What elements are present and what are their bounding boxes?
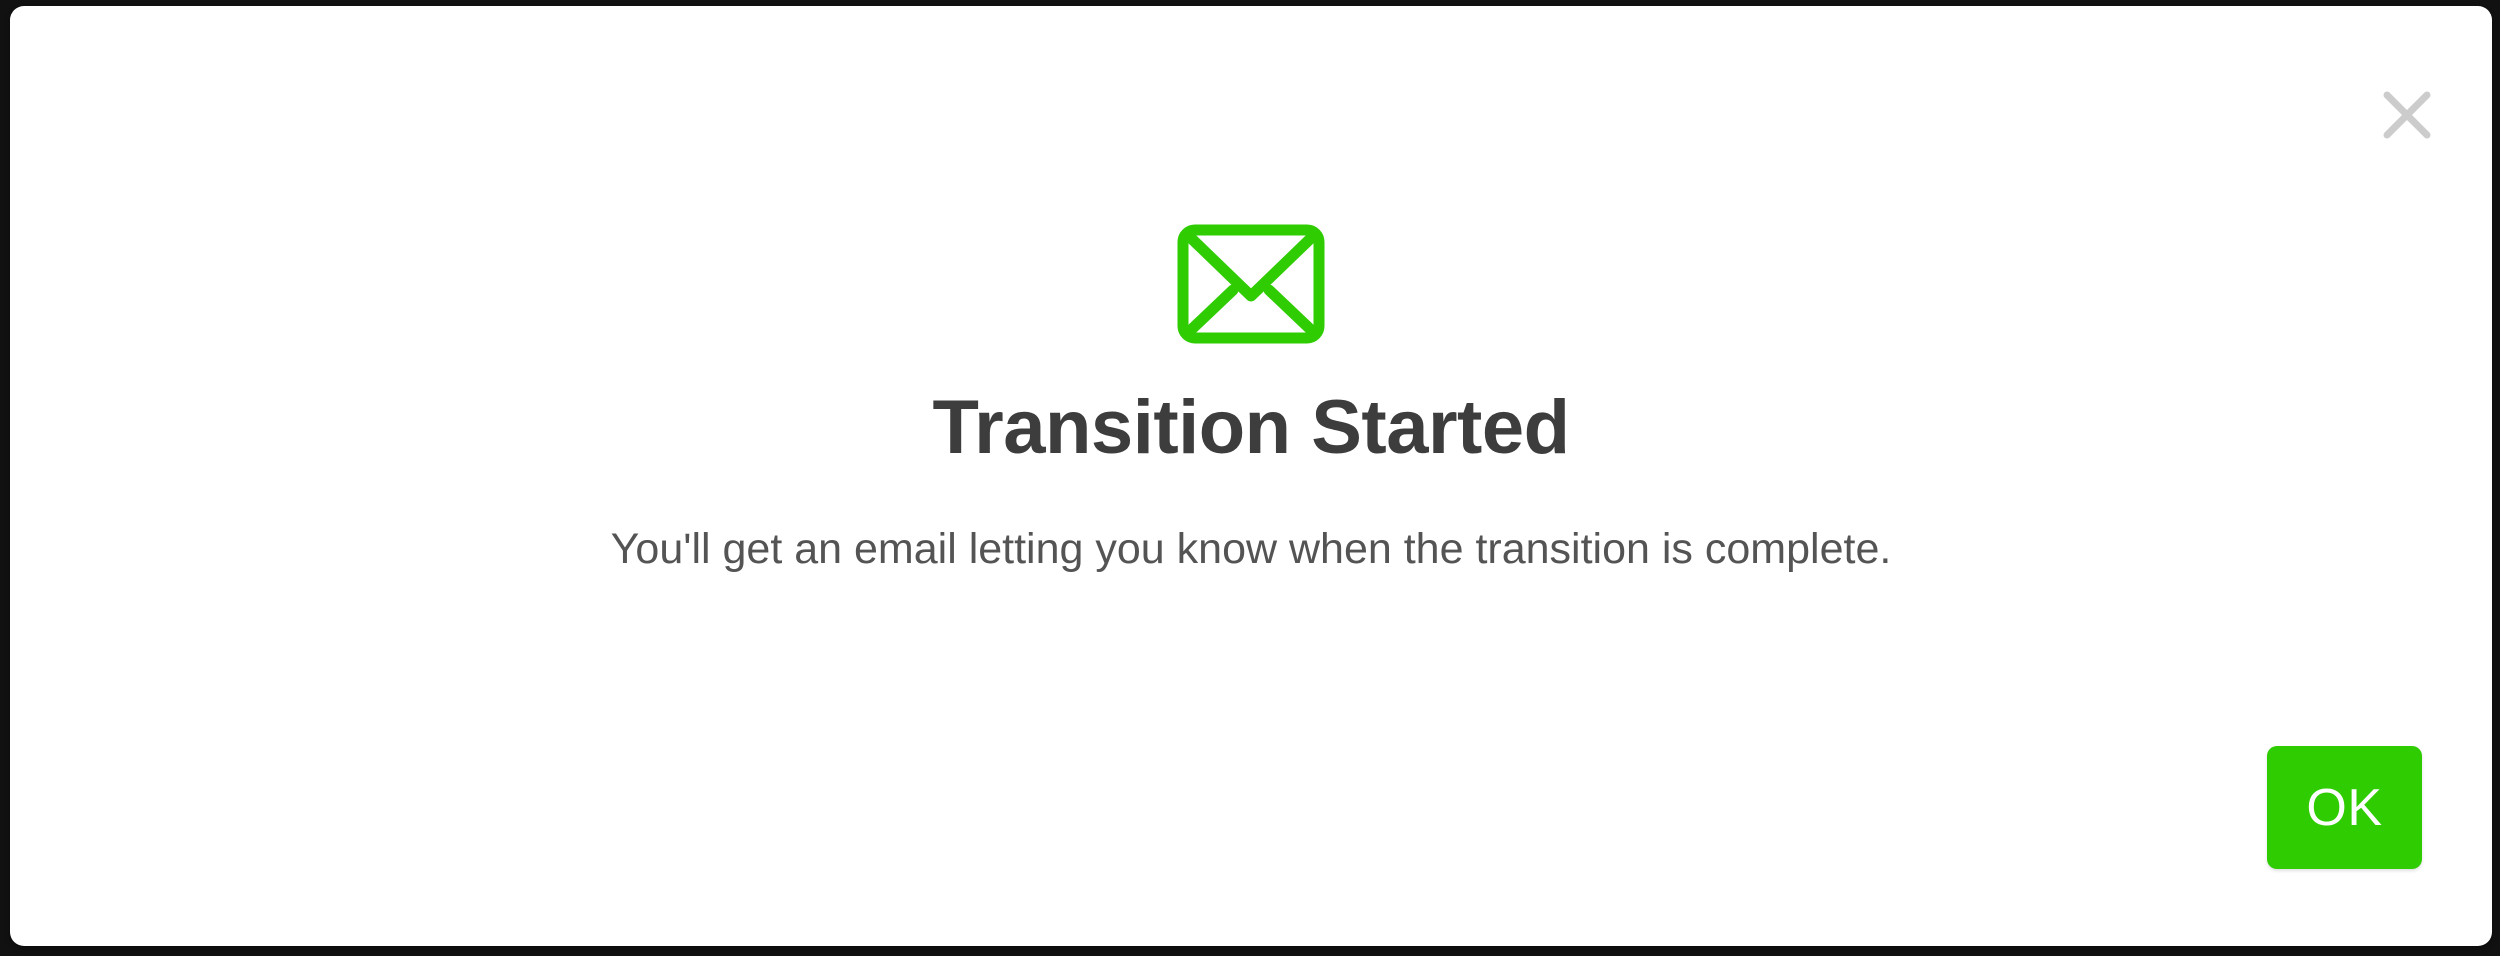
transition-started-dialog: Transition Started You'll get an email l…	[10, 6, 2492, 946]
dialog-message: You'll get an email letting you know whe…	[10, 524, 2492, 576]
ok-button[interactable]: OK	[2267, 746, 2422, 869]
dialog-title: Transition Started	[10, 390, 2492, 466]
dialog-content: Transition Started You'll get an email l…	[10, 6, 2492, 576]
envelope-icon	[1175, 220, 1327, 348]
envelope-icon-wrapper	[10, 218, 2492, 350]
